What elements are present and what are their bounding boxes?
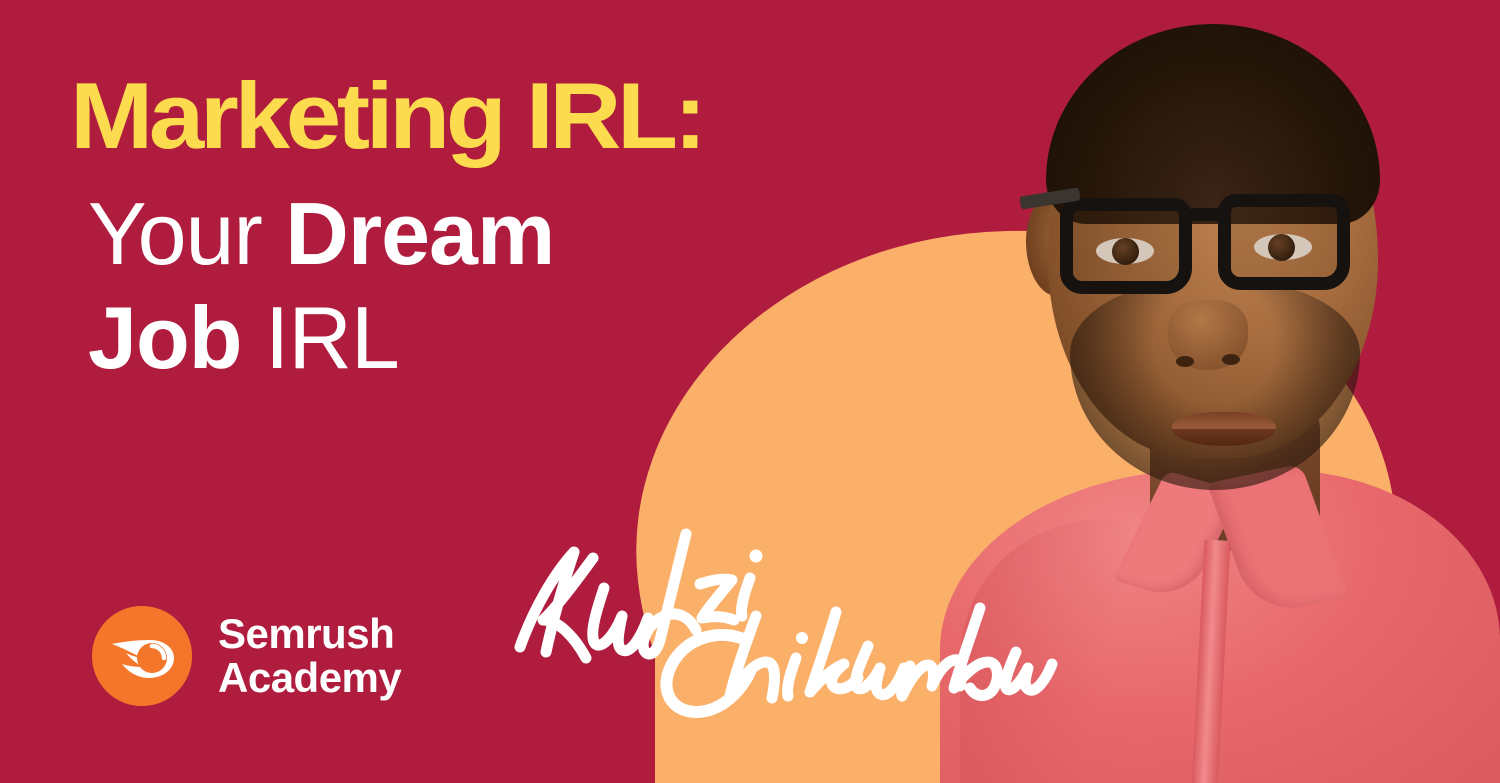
subtitle-job: Job — [88, 288, 241, 387]
nostril-right — [1222, 354, 1240, 365]
headline-title-text: Marketing IRL: — [70, 68, 703, 164]
lips — [1172, 412, 1276, 446]
speaker-portrait — [900, 0, 1500, 783]
glasses-bridge — [1190, 208, 1222, 221]
headline-block: Marketing IRL: Your Dream Job IRL — [88, 68, 908, 390]
semrush-comet-icon — [92, 606, 192, 706]
lens-left — [1060, 198, 1192, 294]
subtitle-dream: Dream — [285, 184, 554, 283]
lens-right — [1218, 194, 1350, 290]
logo-wordmark: Semrush Academy — [218, 612, 401, 700]
logo-line-semrush: Semrush — [218, 612, 401, 656]
semrush-academy-logo[interactable]: Semrush Academy — [92, 606, 401, 706]
headline-title-line: Marketing IRL: — [88, 68, 908, 164]
headline-subtitle: Your Dream Job IRL — [88, 182, 908, 390]
subtitle-irl: IRL — [241, 288, 398, 387]
logo-line-academy: Academy — [218, 656, 401, 700]
eyeglasses-icon — [1050, 186, 1390, 298]
nostril-left — [1176, 356, 1194, 367]
marketing-irl-banner: Marketing IRL: Your Dream Job IRL — [0, 0, 1500, 783]
subtitle-your: Your — [88, 184, 285, 283]
